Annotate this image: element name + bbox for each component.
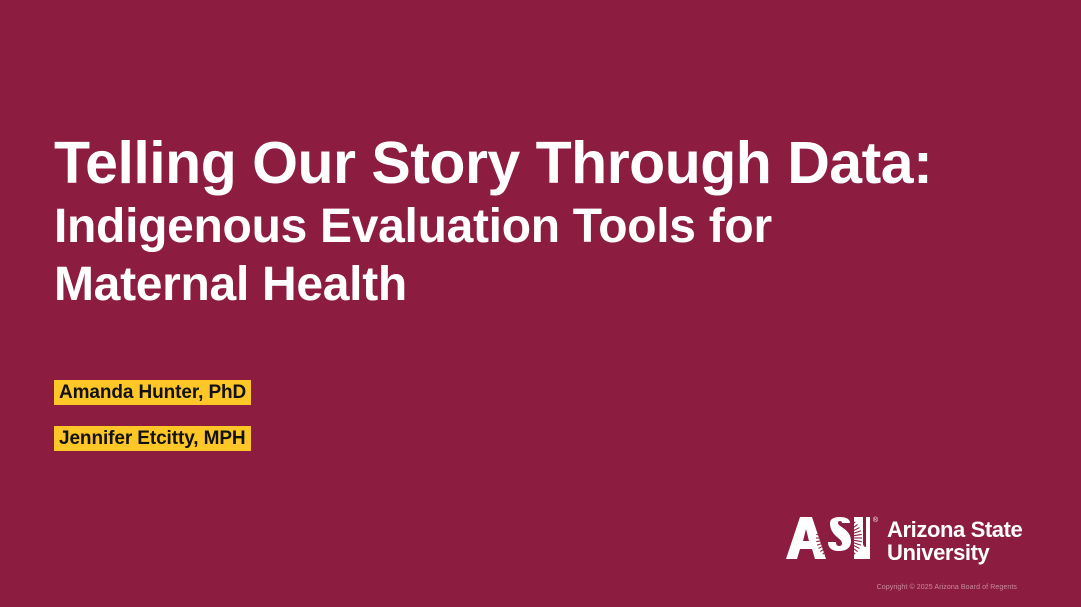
list-item: Jennifer Etcitty, MPH (54, 426, 251, 451)
title-slide: Telling Our Story Through Data: Indigeno… (0, 0, 1081, 607)
copyright-notice: Copyright © 2025 Arizona Board of Regent… (0, 583, 1081, 593)
author-list: Amanda Hunter, PhD Jennifer Etcitty, MPH (54, 380, 251, 451)
author-name-primary: Amanda Hunter, PhD (54, 380, 251, 405)
registered-trademark-icon: ® (873, 517, 878, 524)
asu-wordmark: Arizona State University (887, 517, 1022, 564)
wordmark-line-1: Arizona State (887, 518, 1022, 541)
page-title: Telling Our Story Through Data: Indigeno… (54, 128, 984, 314)
asu-logo-lockup: ® Arizona State University (786, 517, 1022, 564)
asu-sunburst-logo-icon: ® (786, 517, 870, 559)
list-item: Amanda Hunter, PhD (54, 380, 251, 405)
author-name-secondary: Jennifer Etcitty, MPH (54, 426, 251, 451)
title-line-secondary: Indigenous Evaluation Tools for (54, 198, 984, 256)
wordmark-line-2: University (887, 541, 1022, 564)
title-line-tertiary: Maternal Health (54, 256, 984, 314)
title-line-primary: Telling Our Story Through Data: (54, 128, 984, 198)
